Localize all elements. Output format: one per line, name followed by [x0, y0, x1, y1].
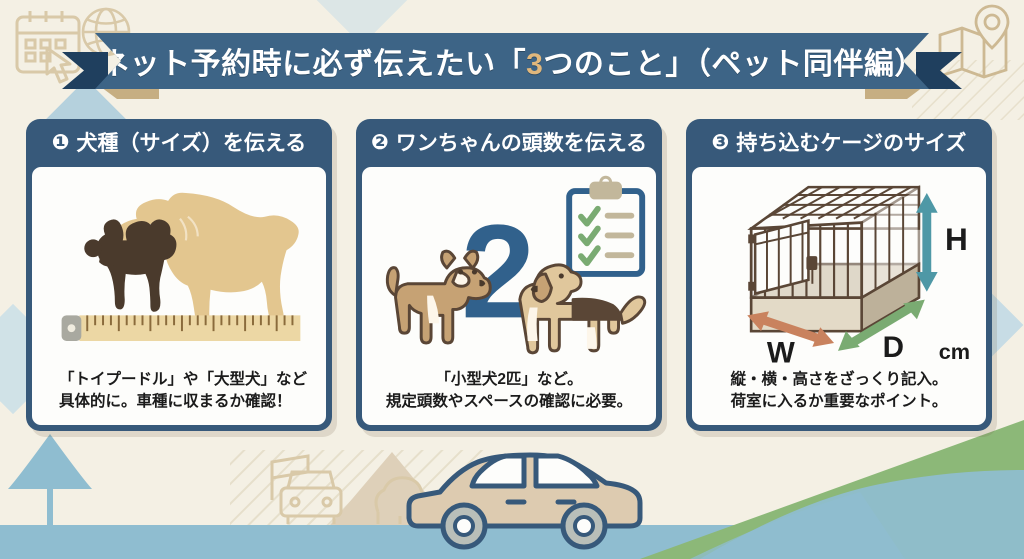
card-3-number-badge: ❸ — [712, 132, 730, 153]
title-highlight-number: 3 — [526, 48, 543, 81]
crate-dimension-illustration: H W D cm — [692, 167, 986, 369]
card-dog-count[interactable]: ❷ ワンちゃんの頭数を伝える 2 — [356, 119, 662, 431]
card-1-caption: 「トイプードル」や「大型犬」など 具体的に。車種に収まるか確認！ — [43, 369, 315, 425]
tape-measure-ruler — [62, 315, 301, 341]
height-label: H — [945, 221, 968, 257]
ribbon-banner: ネット予約時に必ず伝えたい「3つのこと」（ペット同伴編） — [95, 33, 929, 89]
title-part-1: ネット予約時に必ず伝えたい「 — [99, 48, 526, 81]
title-part-2: つのこと」 — [543, 48, 696, 81]
card-3-caption-line-2: 荷室に入るか重要なポイント。 — [730, 391, 947, 413]
beagle-illustration — [520, 265, 645, 353]
card-1-caption-line-2: 具体的に。車種に収まるか確認！ — [59, 391, 307, 413]
depth-label: D — [883, 331, 904, 364]
card-3-caption-line-1: 縦・横・高さをざっくり記入。 — [730, 369, 947, 391]
toy-poodle-silhouette — [84, 219, 176, 311]
card-2-header: ❷ ワンちゃんの頭数を伝える — [356, 119, 662, 165]
card-2-caption-line-2: 規定頭数やスペースの確認に必要。 — [386, 391, 632, 413]
dog-size-art — [32, 167, 326, 369]
card-2-number-badge: ❷ — [371, 132, 389, 153]
card-1-header: ❶ 犬種（サイズ）を伝える — [26, 119, 332, 165]
dog-count-art: 2 — [362, 167, 656, 369]
dog-crate-icon — [748, 187, 919, 331]
card-1-body: 「トイプードル」や「大型犬」など 具体的に。車種に収まるか確認！ — [30, 165, 328, 427]
card-2-title: ワンちゃんの頭数を伝える — [396, 127, 647, 157]
title-ribbon: ネット予約時に必ず伝えたい「3つのこと」（ペット同伴編） — [95, 33, 929, 89]
card-3-caption: 縦・横・高さをざっくり記入。 荷室に入るか重要なポイント。 — [722, 369, 955, 425]
clipboard-checklist-icon — [569, 177, 642, 274]
card-3-title: 持ち込むケージのサイズ — [736, 127, 966, 157]
car-illustration — [388, 440, 688, 550]
unit-label: cm — [939, 339, 970, 364]
card-2-caption: 「小型犬2匹」など。 規定頭数やスペースの確認に必要。 — [378, 369, 640, 425]
card-1-title: 犬種（サイズ）を伝える — [77, 127, 307, 157]
dog-count-illustration: 2 — [362, 167, 656, 369]
card-2-body: 2 — [360, 165, 658, 427]
card-1-number-badge: ❶ — [52, 132, 70, 153]
crate-art: H W D cm — [692, 167, 986, 369]
dog-size-illustration — [32, 167, 326, 369]
card-crate-size[interactable]: ❸ 持ち込むケージのサイズ — [686, 119, 992, 431]
card-3-body: H W D cm — [690, 165, 988, 427]
card-3-header: ❸ 持ち込むケージのサイズ — [686, 119, 992, 165]
card-breed-size[interactable]: ❶ 犬種（サイズ）を伝える — [26, 119, 332, 431]
card-2-caption-line-1: 「小型犬2匹」など。 — [386, 369, 632, 391]
width-label: W — [767, 337, 795, 369]
title-part-3: （ペット同伴編） — [696, 48, 925, 81]
infographic-canvas: ネット予約時に必ず伝えたい「3つのこと」（ペット同伴編） ❶ 犬種（サイズ）を伝… — [0, 0, 1024, 559]
page-title: ネット予約時に必ず伝えたい「3つのこと」（ペット同伴編） — [99, 39, 925, 83]
card-1-caption-line-1: 「トイプードル」や「大型犬」など — [59, 369, 307, 391]
sedan-side-view — [388, 440, 688, 550]
